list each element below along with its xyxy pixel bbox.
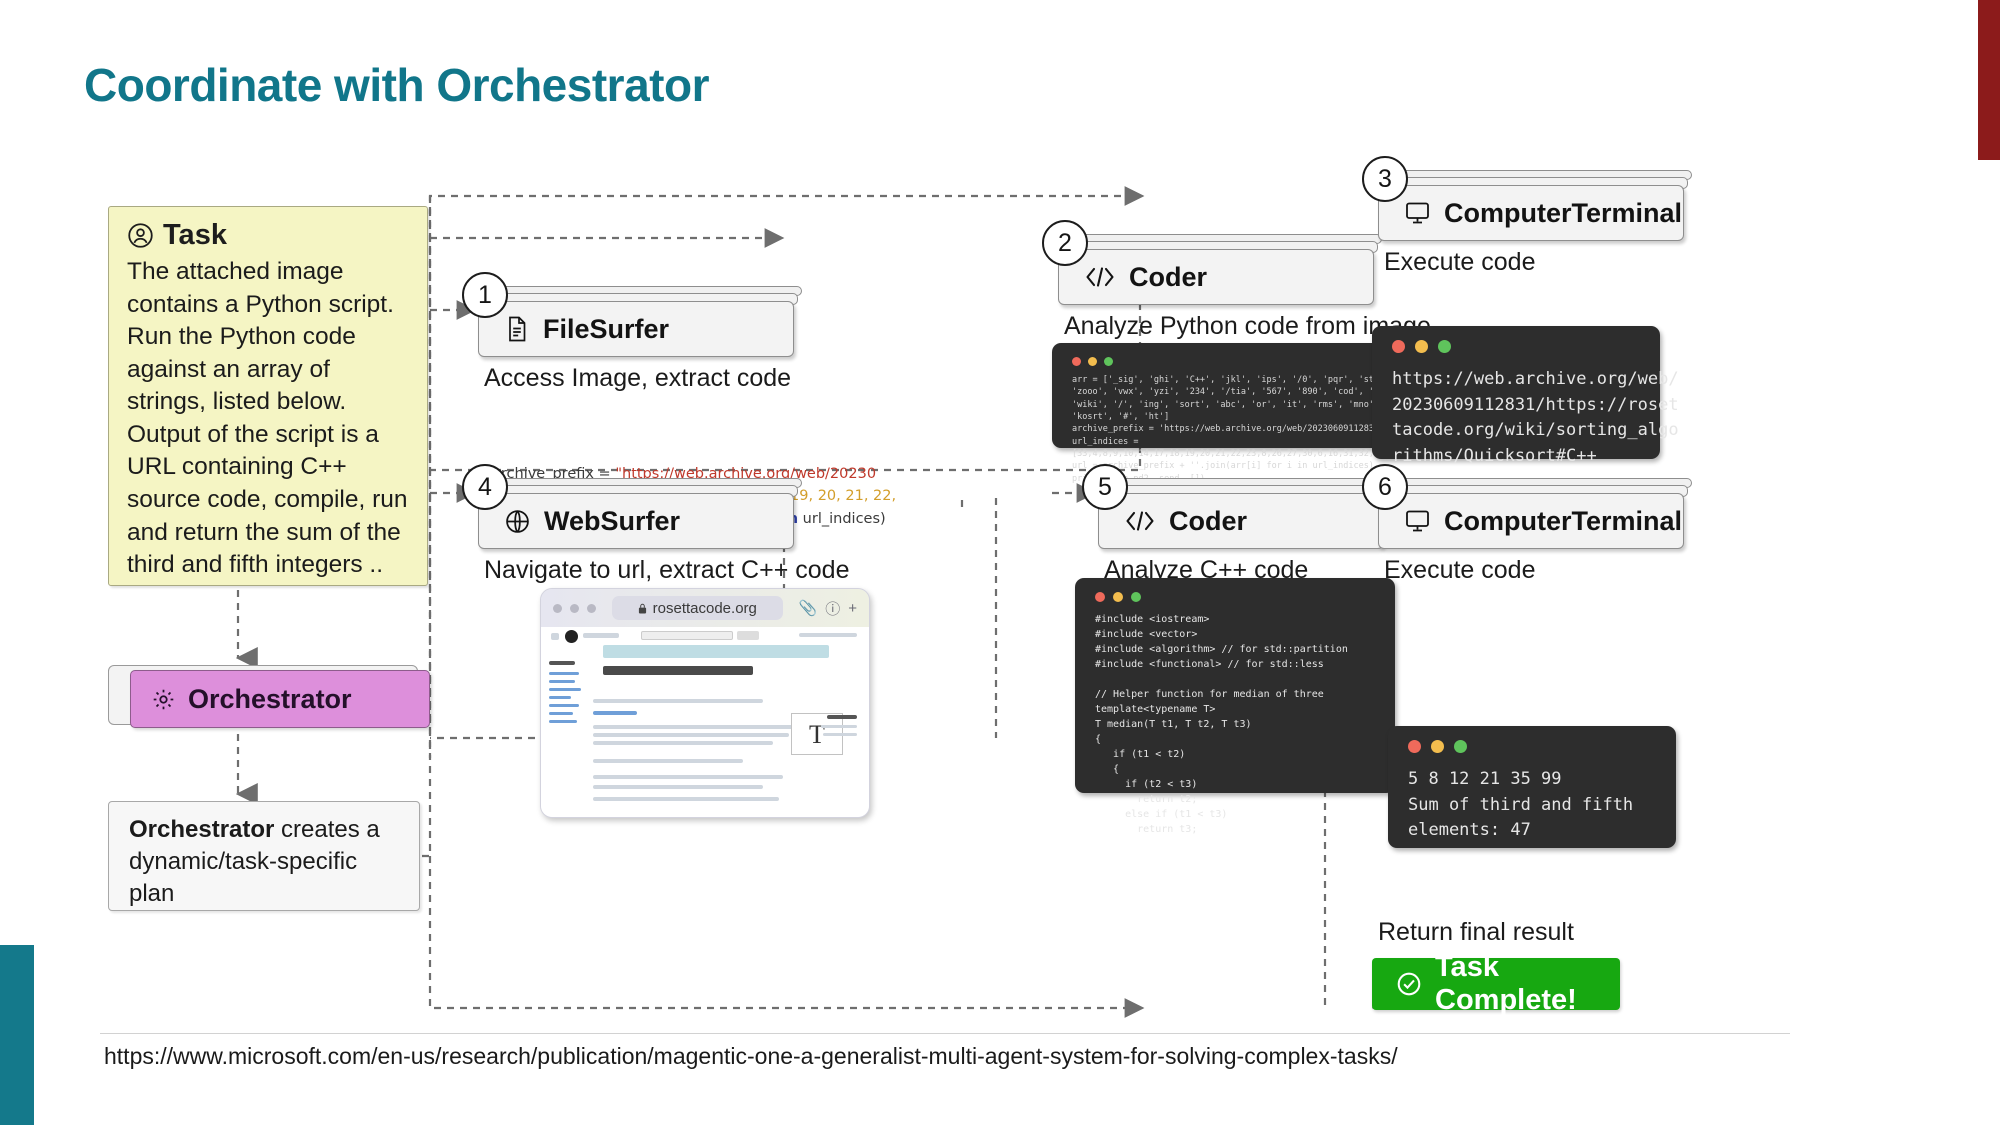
step-badge: 4: [462, 464, 508, 510]
computerterminal-card[interactable]: ComputerTerminal: [1378, 493, 1684, 549]
file-icon: [505, 316, 529, 342]
monitor-icon: [1405, 201, 1430, 225]
cpp-code-terminal: #include <iostream> #include <vector> #i…: [1075, 578, 1395, 793]
window-dots: [1392, 340, 1644, 353]
node-name: ComputerTerminal: [1444, 198, 1682, 229]
coder-card[interactable]: Coder: [1058, 249, 1374, 305]
terminal-output-3: https://web.archive.org/web/ 20230609112…: [1392, 367, 1644, 469]
cpp-code-content: #include <iostream> #include <vector> #i…: [1095, 612, 1379, 837]
minimize-dot: [1431, 740, 1444, 753]
lock-icon: [638, 603, 647, 614]
share-icon[interactable]: ⓘ: [825, 598, 840, 619]
code-image-terminal: arr = ['_sig', 'ghi', 'C++', 'jkl', 'ips…: [1052, 343, 1382, 448]
gear-icon: [151, 687, 176, 712]
websurfer-card[interactable]: WebSurfer: [478, 493, 794, 549]
footer-divider: [100, 1033, 1790, 1034]
maximize-dot: [1104, 357, 1113, 366]
close-dot: [1072, 357, 1081, 366]
orchestrator-description-bold: Orchestrator: [129, 816, 274, 843]
close-dot: [1392, 340, 1405, 353]
slide-accent-left: [0, 945, 34, 1125]
filesurfer-card[interactable]: FileSurfer: [478, 301, 794, 357]
page-banner: [603, 645, 829, 658]
orchestrator-card[interactable]: Orchestrator: [130, 670, 430, 728]
page-search-field[interactable]: [641, 631, 733, 640]
orchestrator-description: Orchestrator creates a dynamic/task-spec…: [108, 801, 420, 911]
step-badge: 1: [462, 272, 508, 318]
source-url: https://www.microsoft.com/en-us/research…: [104, 1043, 1398, 1070]
plus-icon[interactable]: +: [848, 600, 857, 617]
globe-icon: [505, 509, 530, 534]
step-badge: 2: [1042, 220, 1088, 266]
node-name: ComputerTerminal: [1444, 506, 1682, 537]
minimize-dot: [1113, 592, 1123, 602]
task-card: Task The attached image contains a Pytho…: [108, 206, 428, 586]
node-caption: Execute code: [1384, 248, 1536, 277]
task-complete-label: Task Complete!: [1435, 951, 1596, 1017]
minimize-dot: [1088, 357, 1097, 366]
minimize-dot: [1415, 340, 1428, 353]
page-skeleton: [827, 715, 857, 719]
code-icon: [1125, 510, 1155, 532]
node-name: FileSurfer: [543, 314, 669, 345]
browser-page: T: [541, 627, 869, 817]
site-logo: [565, 630, 578, 643]
terminal-output-6: 5 8 12 21 35 99 Sum of third and fifth e…: [1408, 767, 1660, 844]
page-skeleton: [593, 797, 779, 801]
page-search-button[interactable]: [737, 631, 759, 640]
node-caption: Execute code: [1384, 556, 1536, 585]
browser-url: rosettacode.org: [653, 600, 757, 617]
task-title: Task: [163, 219, 227, 252]
task-complete-button[interactable]: Task Complete!: [1372, 958, 1620, 1010]
page-skeleton: [593, 741, 773, 745]
node-name: Coder: [1169, 506, 1247, 537]
page-heading: [603, 666, 753, 675]
node-name: Coder: [1129, 262, 1207, 293]
orchestrator-node[interactable]: Orchestrator: [108, 665, 430, 731]
user-circle-icon: [127, 222, 154, 249]
node-caption: Navigate to url, extract C++ code: [484, 556, 849, 585]
maximize-dot[interactable]: [587, 604, 596, 613]
node-name: WebSurfer: [544, 506, 680, 537]
page-skeleton: [593, 725, 793, 729]
maximize-dot: [1454, 740, 1467, 753]
step-badge: 3: [1362, 156, 1408, 202]
paperclip-icon[interactable]: 📎: [799, 599, 818, 617]
terminal-window-3: https://web.archive.org/web/ 20230609112…: [1372, 326, 1660, 459]
browser-chrome: rosettacode.org 📎 ⓘ +: [541, 589, 869, 627]
page-skeleton: [593, 775, 783, 779]
return-result-label: Return final result: [1378, 918, 1574, 947]
computerterminal-card[interactable]: ComputerTerminal: [1378, 185, 1684, 241]
task-header: Task: [127, 219, 411, 252]
orchestrator-label: Orchestrator: [188, 684, 352, 715]
page-skeleton: [823, 733, 857, 736]
architecture-diagram: Task The attached image contains a Pytho…: [100, 178, 1790, 1038]
code-icon: [1085, 266, 1115, 288]
page-title: Coordinate with Orchestrator: [84, 58, 709, 112]
monitor-icon: [1405, 509, 1430, 533]
node-caption: Access Image, extract code: [484, 364, 791, 393]
page-link[interactable]: [593, 711, 637, 715]
window-dots: [1072, 357, 1366, 366]
page-skeleton: [551, 633, 559, 640]
page-skeleton: [821, 725, 857, 728]
coder-card[interactable]: Coder: [1098, 493, 1384, 549]
page-skeleton: [799, 633, 857, 637]
close-dot[interactable]: [553, 604, 562, 613]
page-skeleton: [593, 785, 763, 789]
check-circle-icon: [1396, 971, 1422, 997]
maximize-dot: [1438, 340, 1451, 353]
page-skeleton: [583, 633, 619, 638]
page-skeleton: [593, 759, 743, 763]
address-bar[interactable]: rosettacode.org: [612, 596, 783, 620]
close-dot: [1095, 592, 1105, 602]
step-badge: 6: [1362, 464, 1408, 510]
close-dot: [1408, 740, 1421, 753]
page-skeleton: [593, 699, 763, 703]
slide-accent-right: [1978, 0, 2000, 160]
window-dots: [1408, 740, 1660, 753]
minimize-dot[interactable]: [570, 604, 579, 613]
browser-screenshot[interactable]: rosettacode.org 📎 ⓘ +: [540, 588, 870, 818]
terminal-window-6: 5 8 12 21 35 99 Sum of third and fifth e…: [1388, 726, 1676, 848]
step-badge: 5: [1082, 464, 1128, 510]
page-skeleton: [593, 733, 789, 737]
maximize-dot: [1131, 592, 1141, 602]
window-dots: [1095, 592, 1379, 602]
task-body: The attached image contains a Python scr…: [127, 256, 411, 582]
page-sidebar: [549, 661, 589, 728]
